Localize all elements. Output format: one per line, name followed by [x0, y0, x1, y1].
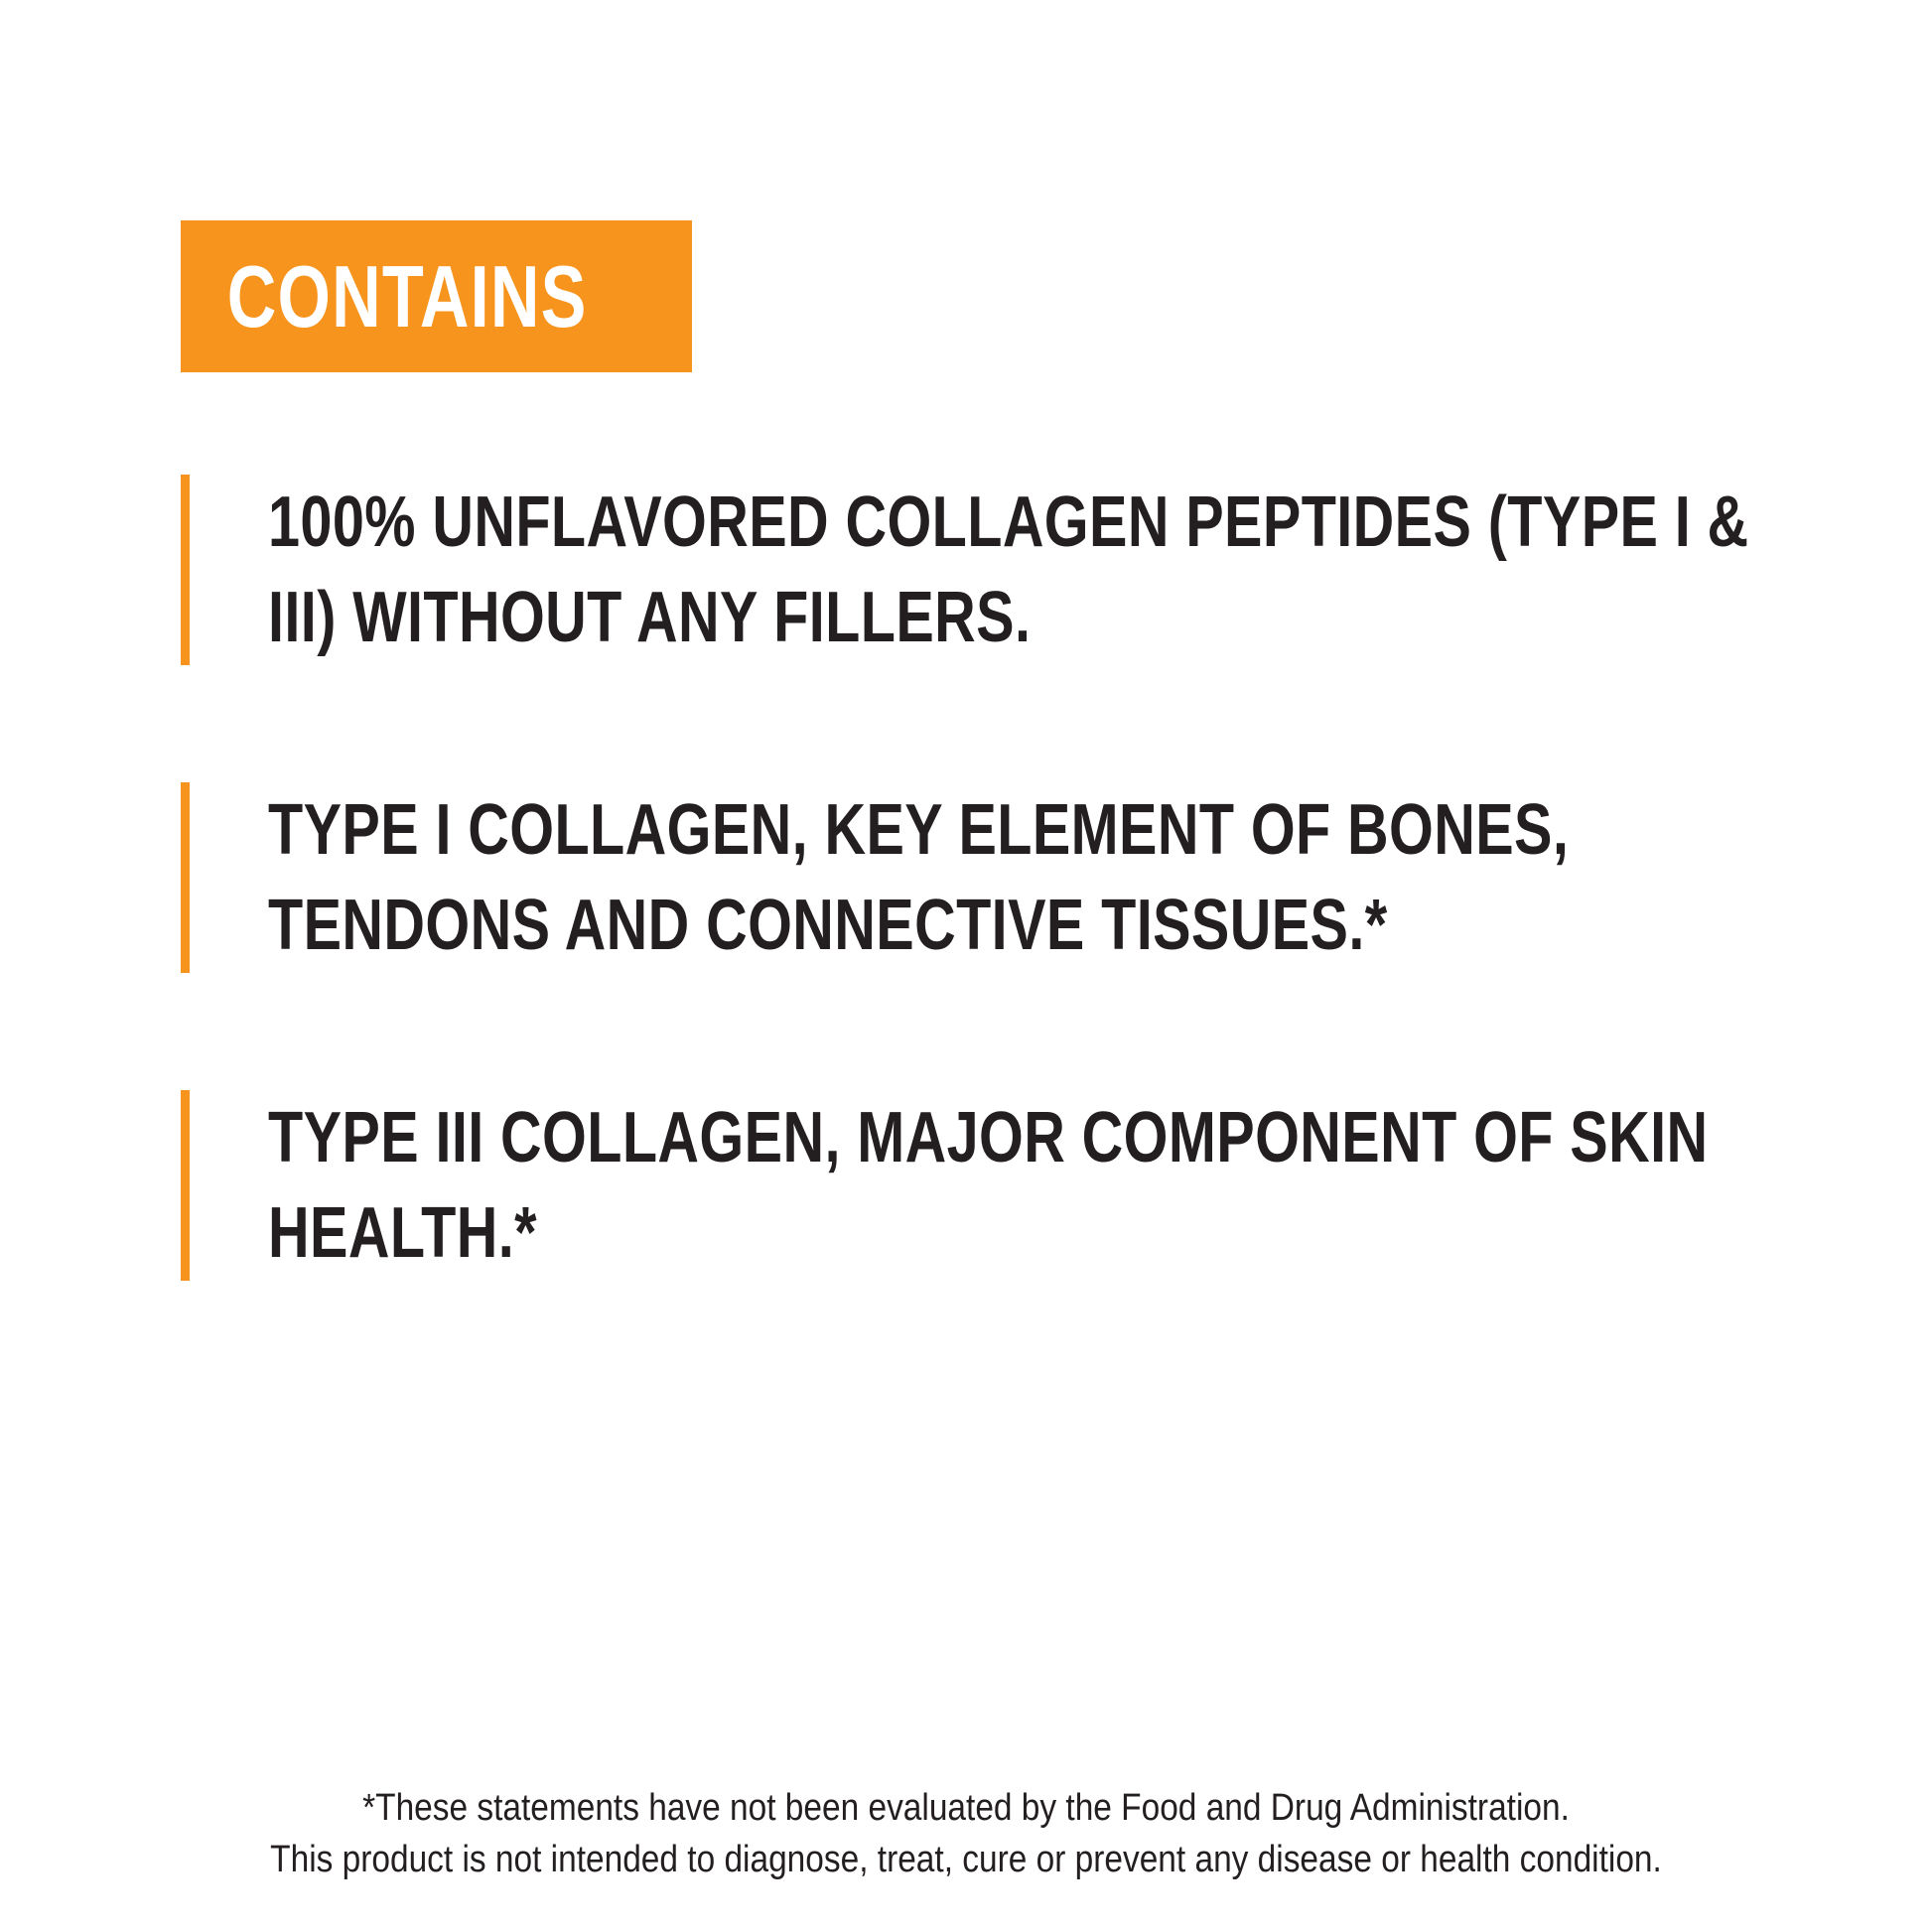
orange-rule-icon [181, 475, 190, 665]
contains-banner-label: CONTAINS [181, 253, 588, 341]
orange-rule-icon [181, 1090, 190, 1281]
list-item: 100% UNFLAVORED COLLAGEN PEPTIDES (TYPE … [181, 475, 1769, 665]
list-item-text: TYPE III COLLAGEN, MAJOR COMPONENT OF SK… [268, 1090, 1769, 1281]
list-item: TYPE I COLLAGEN, KEY ELEMENT OF BONES, T… [181, 782, 1769, 973]
contains-banner: CONTAINS [181, 220, 692, 372]
contains-panel: CONTAINS 100% UNFLAVORED COLLAGEN PEPTID… [0, 0, 1932, 1932]
footer-disclaimer-line-2: This product is not intended to diagnose… [116, 1834, 1816, 1885]
list-item: TYPE III COLLAGEN, MAJOR COMPONENT OF SK… [181, 1090, 1769, 1281]
list-item-text: TYPE I COLLAGEN, KEY ELEMENT OF BONES, T… [268, 782, 1769, 973]
orange-rule-icon [181, 782, 190, 973]
footer-disclaimer-line-1: *These statements have not been evaluate… [116, 1782, 1816, 1834]
list-item-text: 100% UNFLAVORED COLLAGEN PEPTIDES (TYPE … [268, 475, 1769, 665]
footer-disclaimer: *These statements have not been evaluate… [0, 1782, 1932, 1885]
benefit-list: 100% UNFLAVORED COLLAGEN PEPTIDES (TYPE … [181, 475, 1769, 1281]
